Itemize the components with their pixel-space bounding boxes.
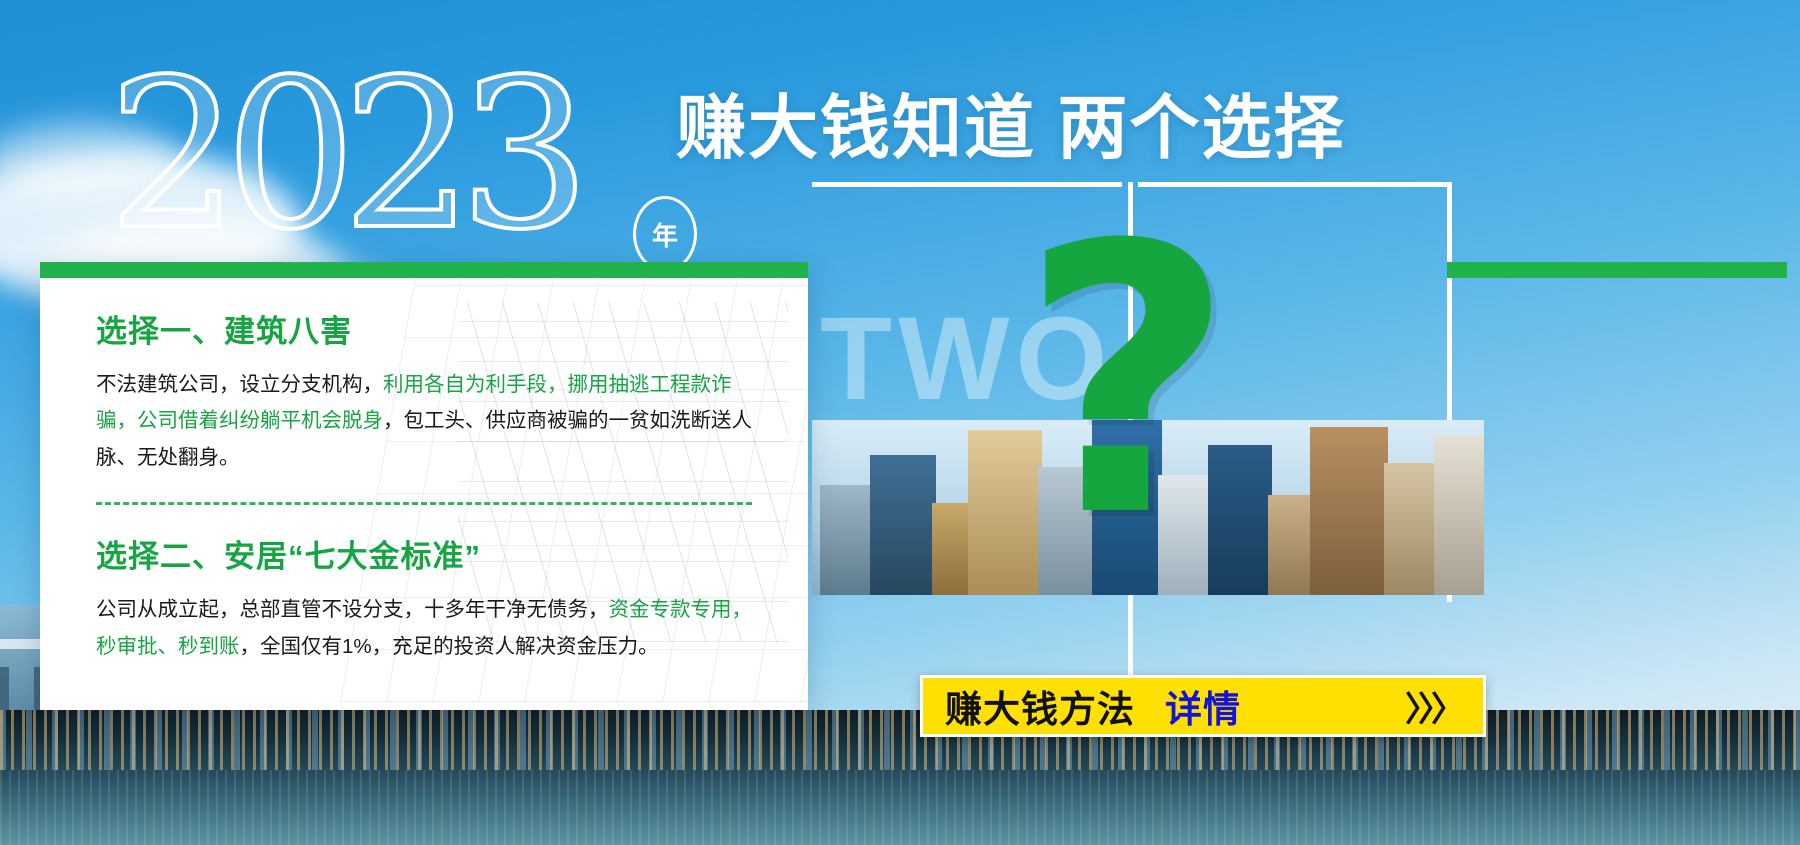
cityscape-band — [0, 710, 1800, 845]
question-mark-icon: ? — [1020, 198, 1235, 568]
section-1-body: 不法建筑公司，设立分支机构，利用各自为利手段，挪用抽逃工程款诈骗，公司借着纠纷躺… — [96, 367, 752, 476]
cta-banner[interactable]: 赚大钱方法 详情 〉〉〉 — [920, 675, 1486, 737]
section-1-run-1: 不法建筑公司，设立分支机构， — [96, 373, 383, 396]
card-body: 选择一、建筑八害 不法建筑公司，设立分支机构，利用各自为利手段，挪用抽逃工程款诈… — [40, 262, 808, 665]
content-card: 选择一、建筑八害 不法建筑公司，设立分支机构，利用各自为利手段，挪用抽逃工程款诈… — [40, 262, 808, 710]
green-accent-bar-right — [1447, 262, 1787, 278]
section-2-run-1: 公司从成立起，总部直管不设分支，十多年干净无债务， — [96, 598, 609, 621]
year-numerals: 2023 — [108, 52, 576, 258]
cta-main-label: 赚大钱方法 — [945, 679, 1135, 733]
cta-details-link[interactable]: 详情 — [1165, 679, 1241, 733]
section-2-run-3: ，全国仅有1%，充足的投资人解决资金压力。 — [240, 635, 659, 658]
year-unit-badge: 年 — [633, 196, 697, 272]
section-divider — [96, 502, 752, 505]
section-2-title: 选择二、安居“七大金标准” — [96, 531, 752, 576]
section-1-title: 选择一、建筑八害 — [96, 306, 752, 351]
poster-root: 2023 2023 年 赚大钱知道 两个选择 TWO CHOICES ? 赚大钱… — [0, 0, 1800, 845]
chevron-right-icon: 〉〉〉 — [1405, 682, 1461, 731]
page-title: 赚大钱知道 两个选择 — [676, 72, 1345, 173]
section-2-body: 公司从成立起，总部直管不设分支，十多年干净无债务，资金专款专用，秒审批、秒到账，… — [96, 592, 752, 665]
